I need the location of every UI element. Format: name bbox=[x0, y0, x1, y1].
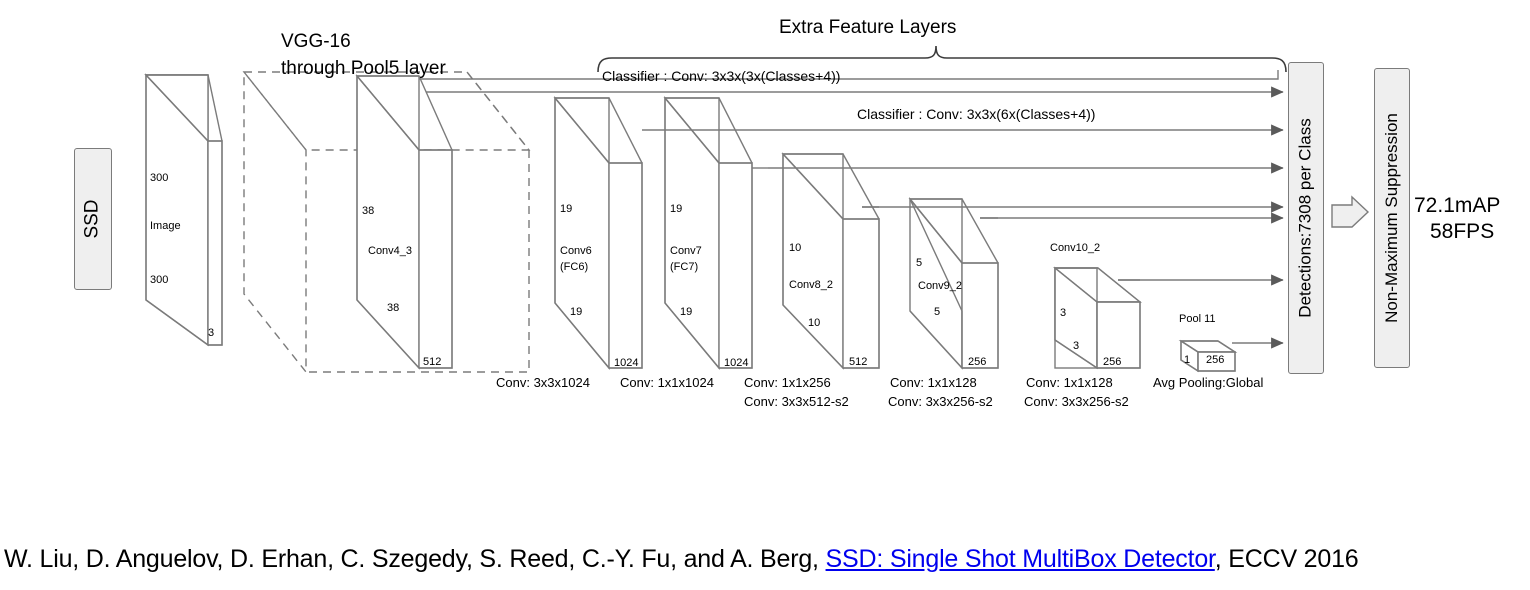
conv4_3-width-label: 38 bbox=[387, 302, 399, 314]
conv8_2-channels-label: 512 bbox=[849, 356, 867, 368]
pool11-height-label: 1 bbox=[1184, 354, 1190, 366]
classifier-3box-label: Classifier : Conv: 3x3x(3x(Classes+4)) bbox=[602, 68, 840, 84]
conv6-name2-label: (FC6) bbox=[560, 261, 588, 273]
conv9_2-name-label: Conv9_2 bbox=[918, 280, 962, 292]
op-conv8_2-row2: Conv: 3x3x256-s2 bbox=[888, 394, 993, 409]
conv10_2-channels-label: 256 bbox=[1103, 356, 1121, 368]
image-name-label: Image bbox=[150, 220, 181, 232]
classifier-6box-label: Classifier : Conv: 3x3x(6x(Classes+4)) bbox=[857, 106, 1095, 122]
op-conv6-row1: Conv: 1x1x1024 bbox=[620, 375, 714, 390]
figure-caption: W. Liu, D. Anguelov, D. Erhan, C. Szeged… bbox=[4, 545, 1359, 574]
conv10_2-width-label: 3 bbox=[1073, 340, 1079, 352]
conv9_2-height-label: 5 bbox=[916, 257, 922, 269]
ssd-architecture-figure: SSD Detections:7308 per Class Non-Maximu… bbox=[0, 0, 1530, 590]
conv6-channels-label: 1024 bbox=[614, 357, 638, 369]
extra-feature-layers-label: Extra Feature Layers bbox=[779, 17, 956, 39]
pool11-name-label: Pool 11 bbox=[1179, 313, 1216, 325]
conv8_2-height-label: 10 bbox=[789, 242, 801, 254]
conv10_2-name-label: Conv10_2 bbox=[1050, 242, 1100, 254]
op-conv8_2-row1: Conv: 1x1x128 bbox=[890, 375, 977, 390]
caption-authors: W. Liu, D. Anguelov, D. Erhan, C. Szeged… bbox=[4, 545, 826, 573]
image-width-label: 300 bbox=[150, 274, 168, 286]
conv8_2-name-label: Conv8_2 bbox=[789, 279, 833, 291]
conv9_2-channels-label: 256 bbox=[968, 356, 986, 368]
pool11-channels-label: 256 bbox=[1206, 354, 1224, 366]
conv6-height-label: 19 bbox=[560, 203, 572, 215]
conv7-name-label: Conv7 bbox=[670, 245, 702, 257]
caption-venue: , ECCV 2016 bbox=[1215, 545, 1359, 573]
conv8_2-width-label: 10 bbox=[808, 317, 820, 329]
result-map-label: 72.1mAP bbox=[1414, 194, 1500, 218]
op-conv7-row2: Conv: 3x3x512-s2 bbox=[744, 394, 849, 409]
conv7-channels-label: 1024 bbox=[724, 357, 748, 369]
op-conv9_2-row1: Conv: 1x1x128 bbox=[1026, 375, 1113, 390]
right-block-arrow-icon bbox=[1332, 197, 1368, 227]
block-arrow-layer bbox=[0, 0, 1530, 590]
op-conv9_2-row2: Conv: 3x3x256-s2 bbox=[1024, 394, 1129, 409]
caption-paper-link[interactable]: SSD: Single Shot MultiBox Detector bbox=[826, 545, 1215, 573]
image-height-label: 300 bbox=[150, 172, 168, 184]
vgg16-label-line2: through Pool5 layer bbox=[281, 58, 446, 80]
image-channels-label: 3 bbox=[208, 327, 214, 339]
conv6-name-label: Conv6 bbox=[560, 245, 592, 257]
conv6-width-label: 19 bbox=[570, 306, 582, 318]
conv7-name2-label: (FC7) bbox=[670, 261, 698, 273]
conv4_3-height-label: 38 bbox=[362, 205, 374, 217]
op-conv4_3-row1: Conv: 3x3x1024 bbox=[496, 375, 590, 390]
vgg16-label-line1: VGG-16 bbox=[281, 31, 351, 53]
result-fps-label: 58FPS bbox=[1430, 220, 1494, 244]
conv4_3-channels-label: 512 bbox=[423, 356, 441, 368]
conv4_3-name-label: Conv4_3 bbox=[368, 245, 412, 257]
conv7-height-label: 19 bbox=[670, 203, 682, 215]
op-pool11-row1: Avg Pooling:Global bbox=[1153, 375, 1263, 390]
conv7-width-label: 19 bbox=[680, 306, 692, 318]
op-conv7-row1: Conv: 1x1x256 bbox=[744, 375, 831, 390]
conv10_2-height-label: 3 bbox=[1060, 307, 1066, 319]
conv9_2-width-label: 5 bbox=[934, 306, 940, 318]
